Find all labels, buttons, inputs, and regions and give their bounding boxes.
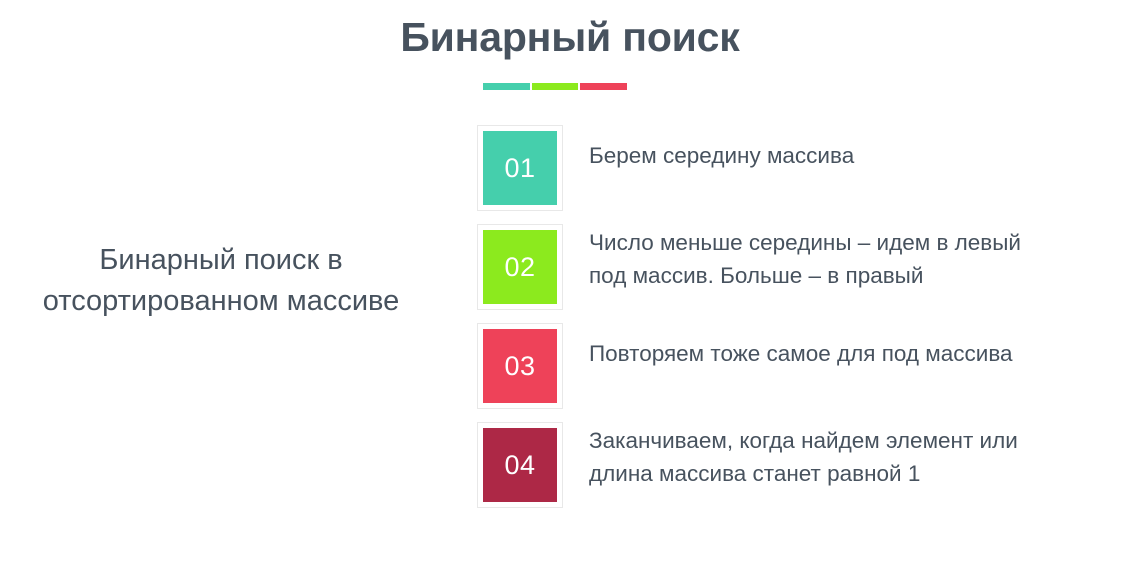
step-text-01-line-1: Берем середину массива <box>589 139 854 172</box>
page-title: Бинарный поиск <box>0 14 1140 61</box>
step-badge-03: 03 <box>477 323 563 409</box>
title-underline-rule <box>483 83 627 90</box>
step-text-03-line-1: Повторяем тоже самое для под массива <box>589 337 1013 370</box>
step-item-04: 04 Заканчиваем, когда найдем элемент или… <box>477 422 1132 521</box>
step-number-04: 04 <box>483 428 557 502</box>
step-number-03: 03 <box>483 329 557 403</box>
step-text-04-line-1: Заканчиваем, когда найдем элемент или <box>589 424 1018 457</box>
step-item-01: 01 Берем середину массива <box>477 125 1132 224</box>
step-item-02: 02 Число меньше середины – идем в левый … <box>477 224 1132 323</box>
step-badge-04: 04 <box>477 422 563 508</box>
step-text-01: Берем середину массива <box>589 125 854 172</box>
step-badge-01: 01 <box>477 125 563 211</box>
step-text-02-line-1: Число меньше середины – идем в левый <box>589 226 1021 259</box>
left-heading: Бинарный поиск в отсортированном массиве <box>26 240 416 322</box>
step-number-01: 01 <box>483 131 557 205</box>
left-heading-line-2: отсортированном <box>43 285 279 317</box>
step-badge-02: 02 <box>477 224 563 310</box>
rule-segment-green <box>532 83 579 90</box>
step-item-03: 03 Повторяем тоже самое для под массива <box>477 323 1132 422</box>
rule-segment-teal <box>483 83 530 90</box>
rule-segment-red <box>580 83 627 90</box>
step-text-02-line-2: под массив. Больше – в правый <box>589 259 1021 292</box>
steps-list: 01 Берем середину массива 02 Число меньш… <box>477 125 1132 521</box>
step-text-02: Число меньше середины – идем в левый под… <box>589 224 1021 293</box>
left-heading-line-3: массиве <box>287 285 399 317</box>
step-text-04-line-2: длина массива станет равной 1 <box>589 457 1018 490</box>
left-heading-line-1: Бинарный поиск в <box>99 244 342 276</box>
step-text-04: Заканчиваем, когда найдем элемент или дл… <box>589 422 1018 491</box>
step-text-03: Повторяем тоже самое для под массива <box>589 323 1013 370</box>
step-number-02: 02 <box>483 230 557 304</box>
